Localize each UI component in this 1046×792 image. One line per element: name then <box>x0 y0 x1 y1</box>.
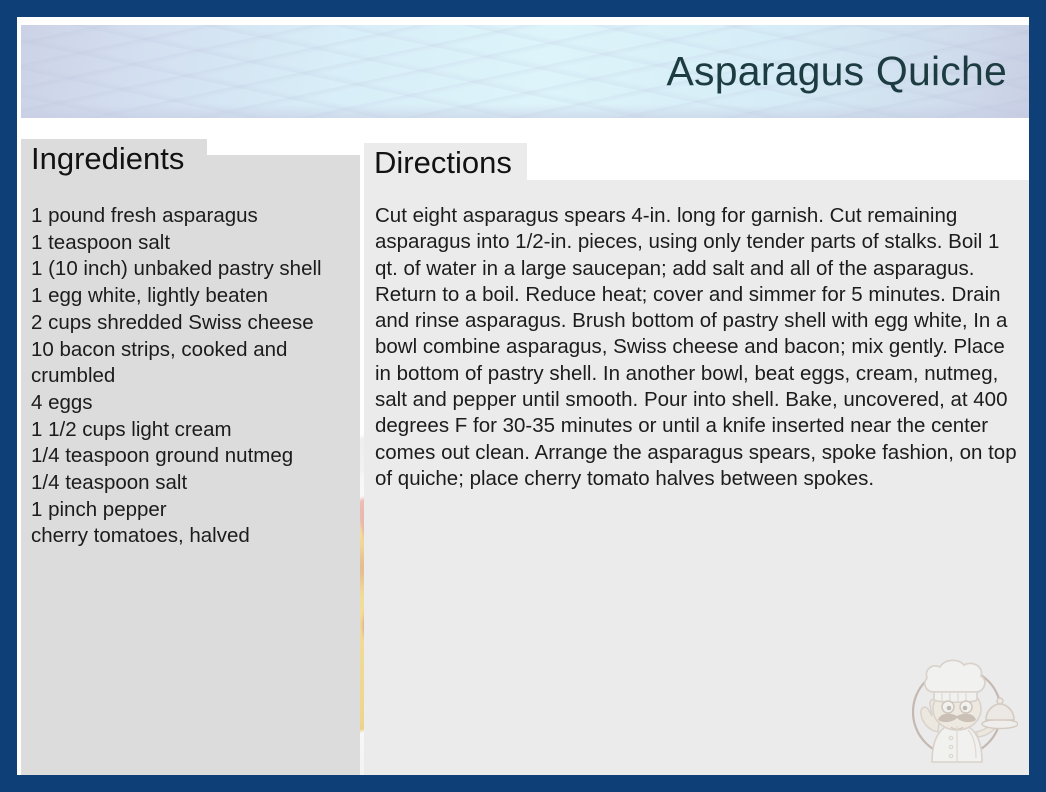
ingredient-item: 10 bacon strips, cooked and crumbled <box>31 337 352 390</box>
ingredients-heading: Ingredients <box>21 141 351 177</box>
recipe-card: Asparagus Quiche Ingredients 1 pound fre… <box>0 0 1046 792</box>
directions-text: Cut eight asparagus spears 4-in. long fo… <box>364 203 1029 492</box>
ingredient-item: 1 teaspoon salt <box>31 230 352 257</box>
directions-heading: Directions <box>364 145 512 181</box>
ingredients-list: 1 pound fresh asparagus1 teaspoon salt1 … <box>21 203 360 550</box>
chef-mascot-logo <box>896 650 1018 766</box>
page-title: Asparagus Quiche <box>666 48 1029 95</box>
ingredient-item: 4 eggs <box>31 390 352 417</box>
ingredient-item: 1 1/2 cups light cream <box>31 417 352 444</box>
ingredient-item: 1 (10 inch) unbaked pastry shell <box>31 256 352 283</box>
ingredient-item: 1/4 teaspoon salt <box>31 470 352 497</box>
ingredient-item: 1 egg white, lightly beaten <box>31 283 352 310</box>
title-banner: Asparagus Quiche <box>21 25 1029 118</box>
ingredient-item: cherry tomatoes, halved <box>31 523 352 550</box>
ingredient-item: 1 pound fresh asparagus <box>31 203 352 230</box>
ingredient-item: 1 pinch pepper <box>31 497 352 524</box>
ingredient-item: 2 cups shredded Swiss cheese <box>31 310 352 337</box>
ingredient-item: 1/4 teaspoon ground nutmeg <box>31 443 352 470</box>
